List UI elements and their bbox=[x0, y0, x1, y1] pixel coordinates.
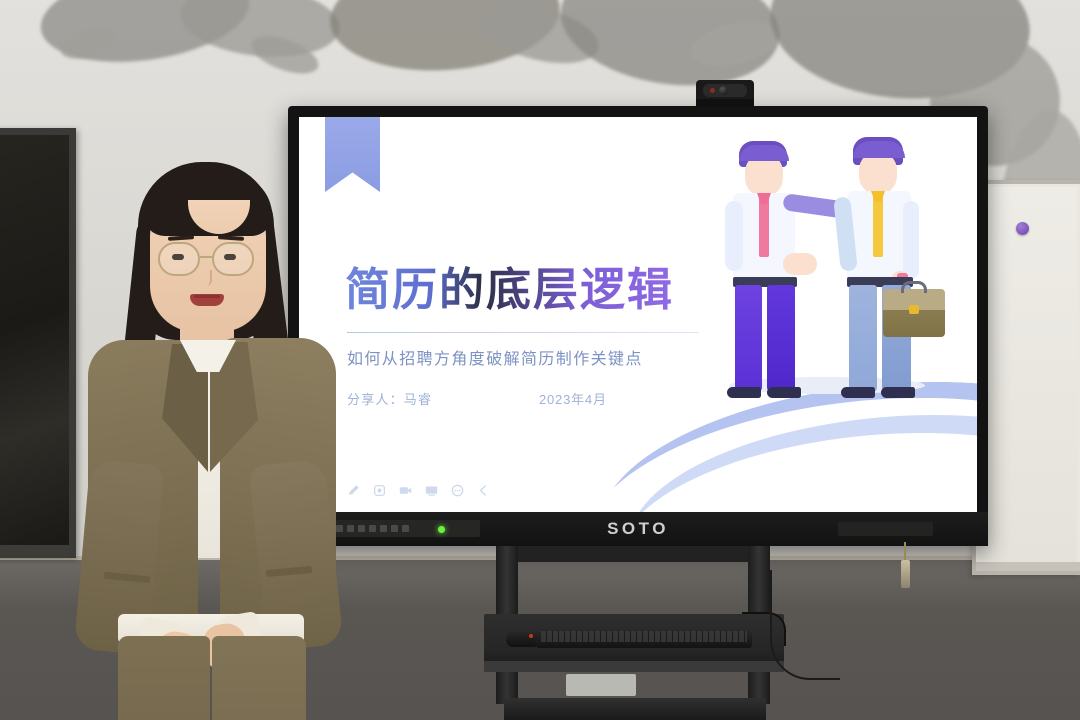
port-icon bbox=[380, 525, 387, 532]
hand-shake bbox=[783, 253, 817, 275]
slide-date: 2023年4月 bbox=[539, 389, 607, 408]
screen-share-icon[interactable] bbox=[425, 484, 438, 497]
power-cable bbox=[770, 570, 840, 680]
ir-receiver-panel bbox=[838, 522, 933, 536]
presentation-toolbar[interactable] bbox=[347, 484, 490, 497]
more-options-icon[interactable] bbox=[451, 484, 464, 497]
cart-base bbox=[504, 698, 766, 720]
previous-slide-icon[interactable] bbox=[477, 484, 490, 497]
glasses-lens-left bbox=[158, 242, 200, 276]
whiteboard-surface bbox=[979, 187, 1077, 568]
mouse-led bbox=[529, 634, 533, 638]
mobile-display-cart bbox=[470, 546, 800, 720]
display-screen[interactable]: 简历的底层逻辑 如何从招聘方角度破解简历制作关键点 分享人：马睿 2023年4月 bbox=[299, 117, 977, 512]
glasses-bridge bbox=[200, 256, 214, 258]
cart-keyboard-shelf bbox=[484, 614, 784, 672]
camera-icon[interactable] bbox=[399, 484, 412, 497]
hair-fringe bbox=[144, 174, 272, 236]
shoe-right bbox=[767, 387, 801, 398]
hair-top bbox=[853, 141, 905, 158]
hair-top bbox=[739, 145, 789, 161]
slide-subtitle: 如何从招聘方角度破解简历制作关键点 bbox=[347, 345, 643, 369]
tag-body bbox=[901, 560, 910, 588]
shoe-right bbox=[881, 387, 915, 398]
cart-crossbar bbox=[496, 546, 770, 562]
nose bbox=[200, 270, 212, 286]
port-icon bbox=[402, 525, 409, 532]
title-divider bbox=[347, 332, 699, 333]
soto-brand-logo: SOTO bbox=[607, 519, 669, 539]
webcam-body bbox=[703, 84, 747, 97]
whiteboard-tray bbox=[976, 562, 1080, 571]
power-led-indicator bbox=[438, 526, 445, 533]
interactive-flat-panel-display[interactable]: 简历的底层逻辑 如何从招聘方角度破解简历制作关键点 分享人：马睿 2023年4月 bbox=[288, 106, 988, 546]
port-icon bbox=[369, 525, 376, 532]
slide-title: 简历的底层逻辑 bbox=[345, 265, 725, 315]
glasses-lens-right bbox=[212, 242, 254, 276]
keyboard-keys bbox=[541, 631, 747, 642]
briefcase-latch bbox=[909, 305, 919, 314]
webcam-ir-led bbox=[710, 88, 715, 93]
powerpoint-slide[interactable]: 简历的底层逻辑 如何从招聘方角度破解简历制作关键点 分享人：马睿 2023年4月 bbox=[299, 117, 977, 512]
laser-pointer-icon[interactable] bbox=[373, 484, 386, 497]
tag-string bbox=[904, 542, 906, 562]
tie bbox=[873, 193, 883, 257]
mouse[interactable] bbox=[506, 630, 540, 647]
hanging-tag bbox=[901, 542, 910, 588]
webcam-icon bbox=[696, 80, 754, 107]
arm-right bbox=[903, 201, 919, 279]
presenter-person bbox=[52, 162, 362, 720]
trouser-leg-left bbox=[118, 636, 210, 720]
port-icon bbox=[391, 525, 398, 532]
arm-left bbox=[725, 201, 743, 271]
mouth bbox=[190, 294, 224, 306]
webcam-lens bbox=[719, 86, 728, 95]
leg-left bbox=[849, 285, 877, 393]
leg-left bbox=[735, 285, 762, 393]
cart-access-panel bbox=[566, 674, 636, 696]
classroom-scene: 简历的底层逻辑 如何从招聘方角度破解简历制作关键点 分享人：马睿 2023年4月 bbox=[0, 0, 1080, 720]
shoe-left bbox=[841, 387, 875, 398]
whiteboard bbox=[972, 180, 1080, 575]
handshake-illustration bbox=[695, 131, 963, 421]
webcam-base bbox=[696, 99, 754, 107]
leg-right bbox=[767, 285, 795, 393]
keyboard[interactable] bbox=[536, 628, 752, 648]
briefcase-handle bbox=[901, 281, 927, 293]
tie bbox=[759, 195, 769, 257]
shoe-left bbox=[727, 387, 761, 398]
trouser-leg-right bbox=[212, 636, 306, 720]
shelf-lip bbox=[484, 661, 784, 672]
magnet-icon bbox=[1016, 222, 1029, 235]
